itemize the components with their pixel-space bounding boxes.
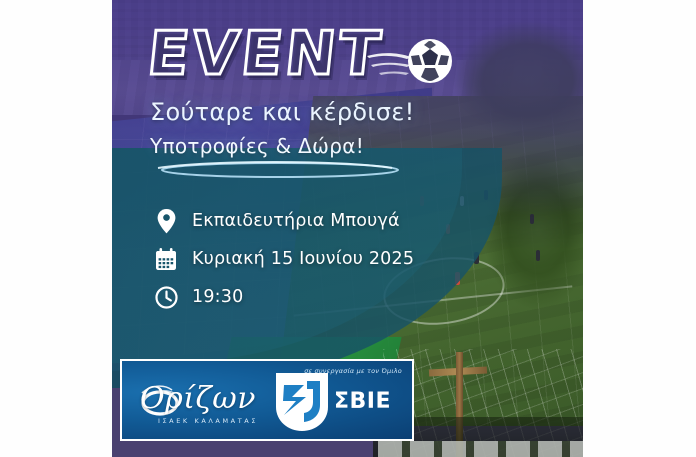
- event-details-list: Εκπαιδευτήρια Μπουγά: [150, 204, 480, 318]
- location-pin-icon: [150, 209, 182, 234]
- photo-player: [536, 250, 540, 261]
- calendar-icon: [150, 248, 182, 271]
- screenshot-canvas: EVENT Σούταρε και κέρδισε! Υποτροφίες & …: [0, 0, 696, 457]
- sbie-shield-icon: [274, 371, 330, 433]
- orizon-logo-subtitle: ΙΣΑΕΚ ΚΑΛΑΜΑΤΑΣ: [138, 417, 278, 425]
- poster-subtitle-secondary: Υποτροφίες & Δώρα!: [150, 134, 364, 158]
- detail-row-date: Κυριακή 15 Ιουνίου 2025: [150, 242, 480, 276]
- orizon-logo: Ορίζων ΙΣΑΕΚ ΚΑΛΑΜΑΤΑΣ: [134, 381, 276, 431]
- decorative-swoosh: [130, 158, 400, 184]
- sbie-logo-text: ΣΒΙΕ: [334, 389, 391, 414]
- sbie-logo: ΣΒΙΕ: [272, 371, 404, 433]
- sponsor-footer-bar: σε συνεργασία με τον Όμιλο Ορίζων ΙΣΑΕΚ …: [120, 359, 414, 441]
- detail-time-text: 19:30: [192, 287, 243, 307]
- photo-bleachers: [378, 441, 583, 457]
- detail-date-text: Κυριακή 15 Ιουνίου 2025: [192, 249, 414, 269]
- page-title: EVENT: [145, 24, 386, 84]
- event-poster: EVENT Σούταρε και κέρδισε! Υποτροφίες & …: [112, 0, 583, 457]
- orizon-logo-text: Ορίζων: [140, 381, 256, 416]
- detail-row-location: Εκπαιδευτήρια Μπουγά: [150, 204, 480, 238]
- soccer-ball-icon: [407, 38, 453, 84]
- detail-location-text: Εκπαιδευτήρια Μπουγά: [192, 211, 400, 231]
- clock-icon: [150, 286, 182, 309]
- detail-row-time: 19:30: [150, 280, 480, 314]
- poster-subtitle-primary: Σούταρε και κέρδισε!: [150, 98, 415, 126]
